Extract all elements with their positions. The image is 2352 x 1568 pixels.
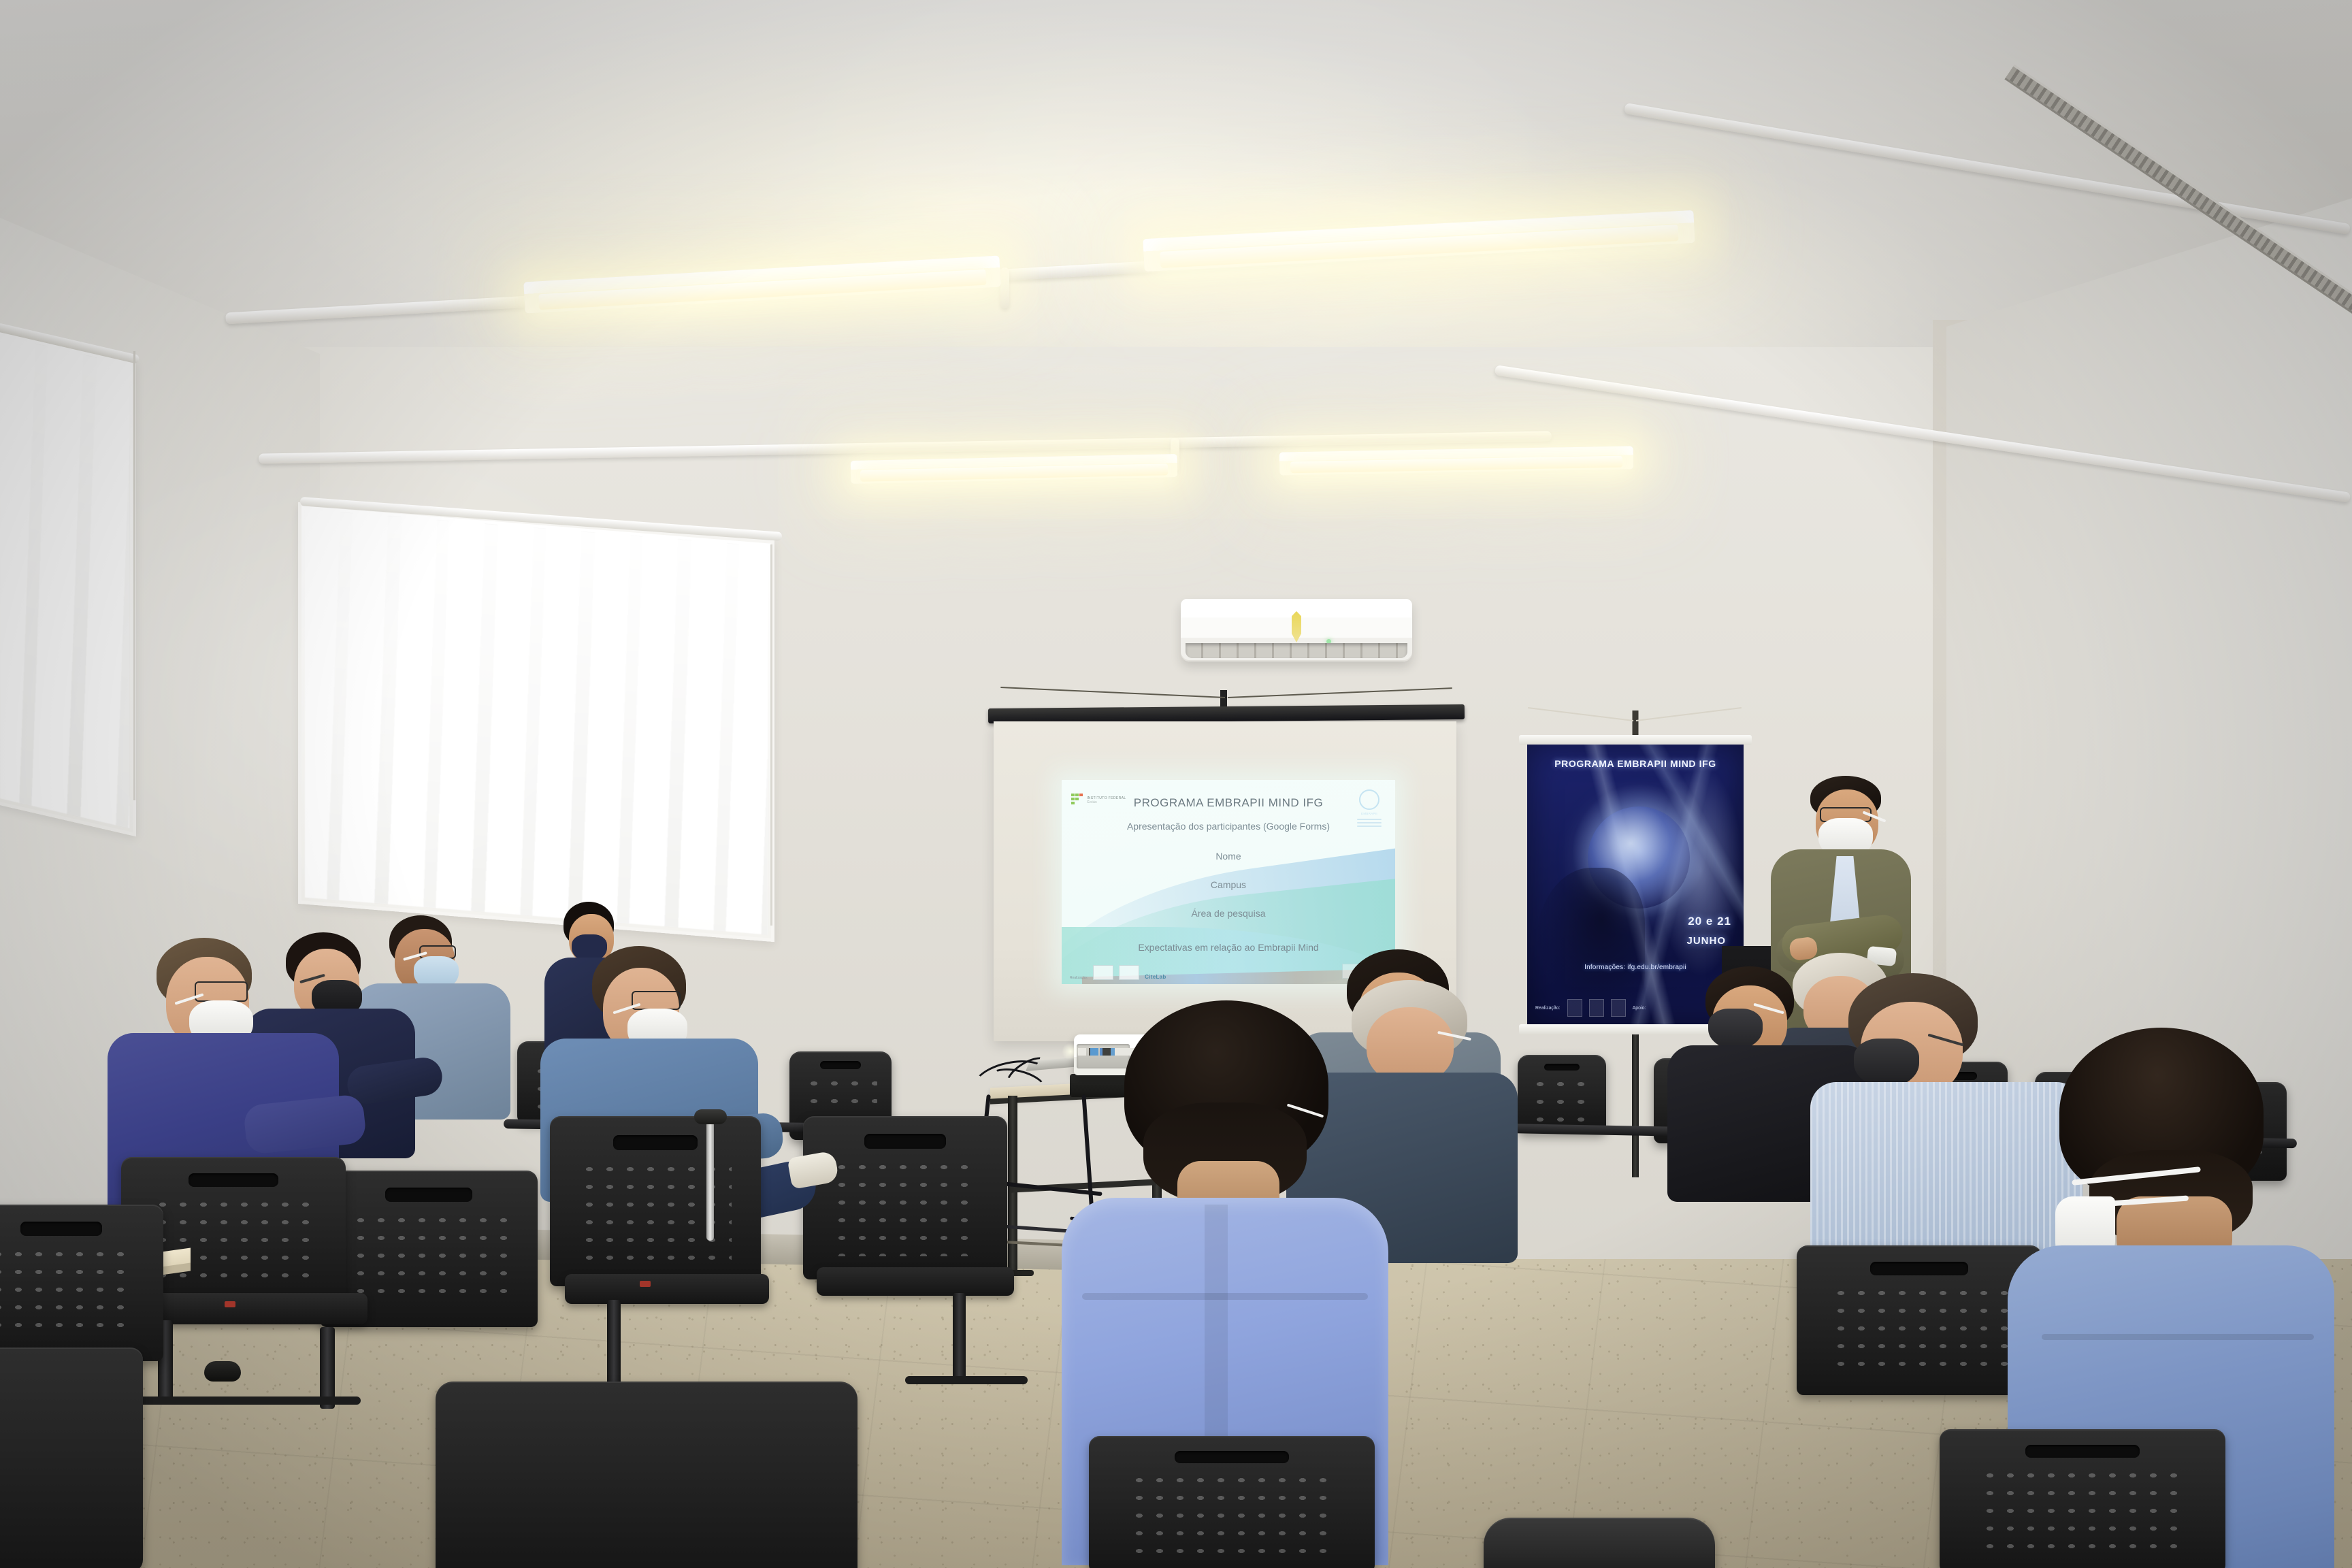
chair-seat[interactable] [817, 1267, 1014, 1296]
banner-realizacao-label: Realização: [1535, 1006, 1561, 1011]
chair[interactable] [1940, 1429, 2225, 1568]
banner-hook [1633, 710, 1639, 735]
cane-handle [694, 1109, 727, 1124]
ribbon-sticker [1292, 611, 1301, 642]
slide-bullet-area: Área de pesquisa [1062, 908, 1395, 919]
window-with-roller-blind [298, 502, 774, 942]
citelab-logo-text: CiteLab [1145, 974, 1166, 980]
slide-footer-label: Realização: [1070, 976, 1088, 980]
chair-leg [607, 1300, 621, 1388]
slide-footer-logos: Realização: CiteLab [1070, 965, 1166, 980]
air-conditioner[interactable] [1181, 599, 1412, 661]
banner-stand-pole [1632, 1034, 1639, 1177]
screen-top-bar [988, 704, 1465, 723]
chair[interactable] [436, 1382, 857, 1568]
chair-brand-tag [640, 1281, 651, 1287]
face-mask [1708, 1009, 1763, 1049]
chair-foot-bar [136, 1396, 361, 1405]
walking-cane[interactable] [706, 1122, 714, 1241]
shirt-seam [2042, 1334, 2314, 1340]
blind-pull-cord[interactable] [133, 351, 135, 800]
wireless-mouse[interactable] [204, 1361, 241, 1382]
sponsor-logo [1589, 999, 1604, 1017]
banner-title: PROGRAMA EMBRAPII MIND IFG [1527, 758, 1744, 769]
sponsor-logo [1611, 999, 1626, 1017]
ac-vent [1186, 643, 1407, 658]
chair[interactable] [1089, 1436, 1375, 1568]
blind-pull-cord[interactable] [770, 544, 772, 926]
screen-hook [1220, 690, 1227, 708]
banner-top-rail [1519, 735, 1752, 745]
slide-bullet-campus: Campus [1062, 879, 1395, 890]
chair-brand-tag [225, 1301, 235, 1307]
partner-logo [1119, 965, 1139, 980]
banner-month: JUNHO [1686, 935, 1726, 947]
face-mask [1854, 1039, 1919, 1088]
chair-seat[interactable] [136, 1293, 367, 1324]
banner-date: 20 e 21 [1688, 915, 1731, 928]
chair[interactable] [1518, 1055, 1606, 1133]
partner-logo [1093, 965, 1113, 980]
slide-bullet-nome: Nome [1062, 851, 1395, 862]
chair[interactable] [803, 1116, 1007, 1279]
window-with-roller-blind [0, 327, 136, 836]
chair-foot-bar [905, 1376, 1028, 1384]
slide-subtitle: Apresentação dos participantes (Google F… [1062, 821, 1395, 832]
chair[interactable] [0, 1205, 163, 1361]
chair-leg [953, 1293, 966, 1382]
eyeglasses [632, 991, 681, 1010]
embrapii-logo-caption: EMBRAPII [1354, 812, 1384, 815]
chair[interactable] [550, 1116, 761, 1286]
chair[interactable] [1484, 1518, 1715, 1568]
classroom-scene: INSTITUTO FEDERAL Goiás EMBRAPII PROGRAM… [0, 0, 2352, 1568]
banner-head-silhouette [1536, 868, 1645, 1017]
chair[interactable] [0, 1347, 143, 1568]
banner-apoio-label: Apoio: [1633, 1006, 1646, 1011]
chair-seat[interactable] [565, 1274, 769, 1304]
conduit-drop [1000, 267, 1009, 308]
slide-title: PROGRAMA EMBRAPII MIND IFG [1062, 796, 1395, 810]
chair[interactable] [1797, 1245, 2042, 1395]
sponsor-logo [1567, 999, 1582, 1017]
eyeglasses [195, 981, 248, 1002]
